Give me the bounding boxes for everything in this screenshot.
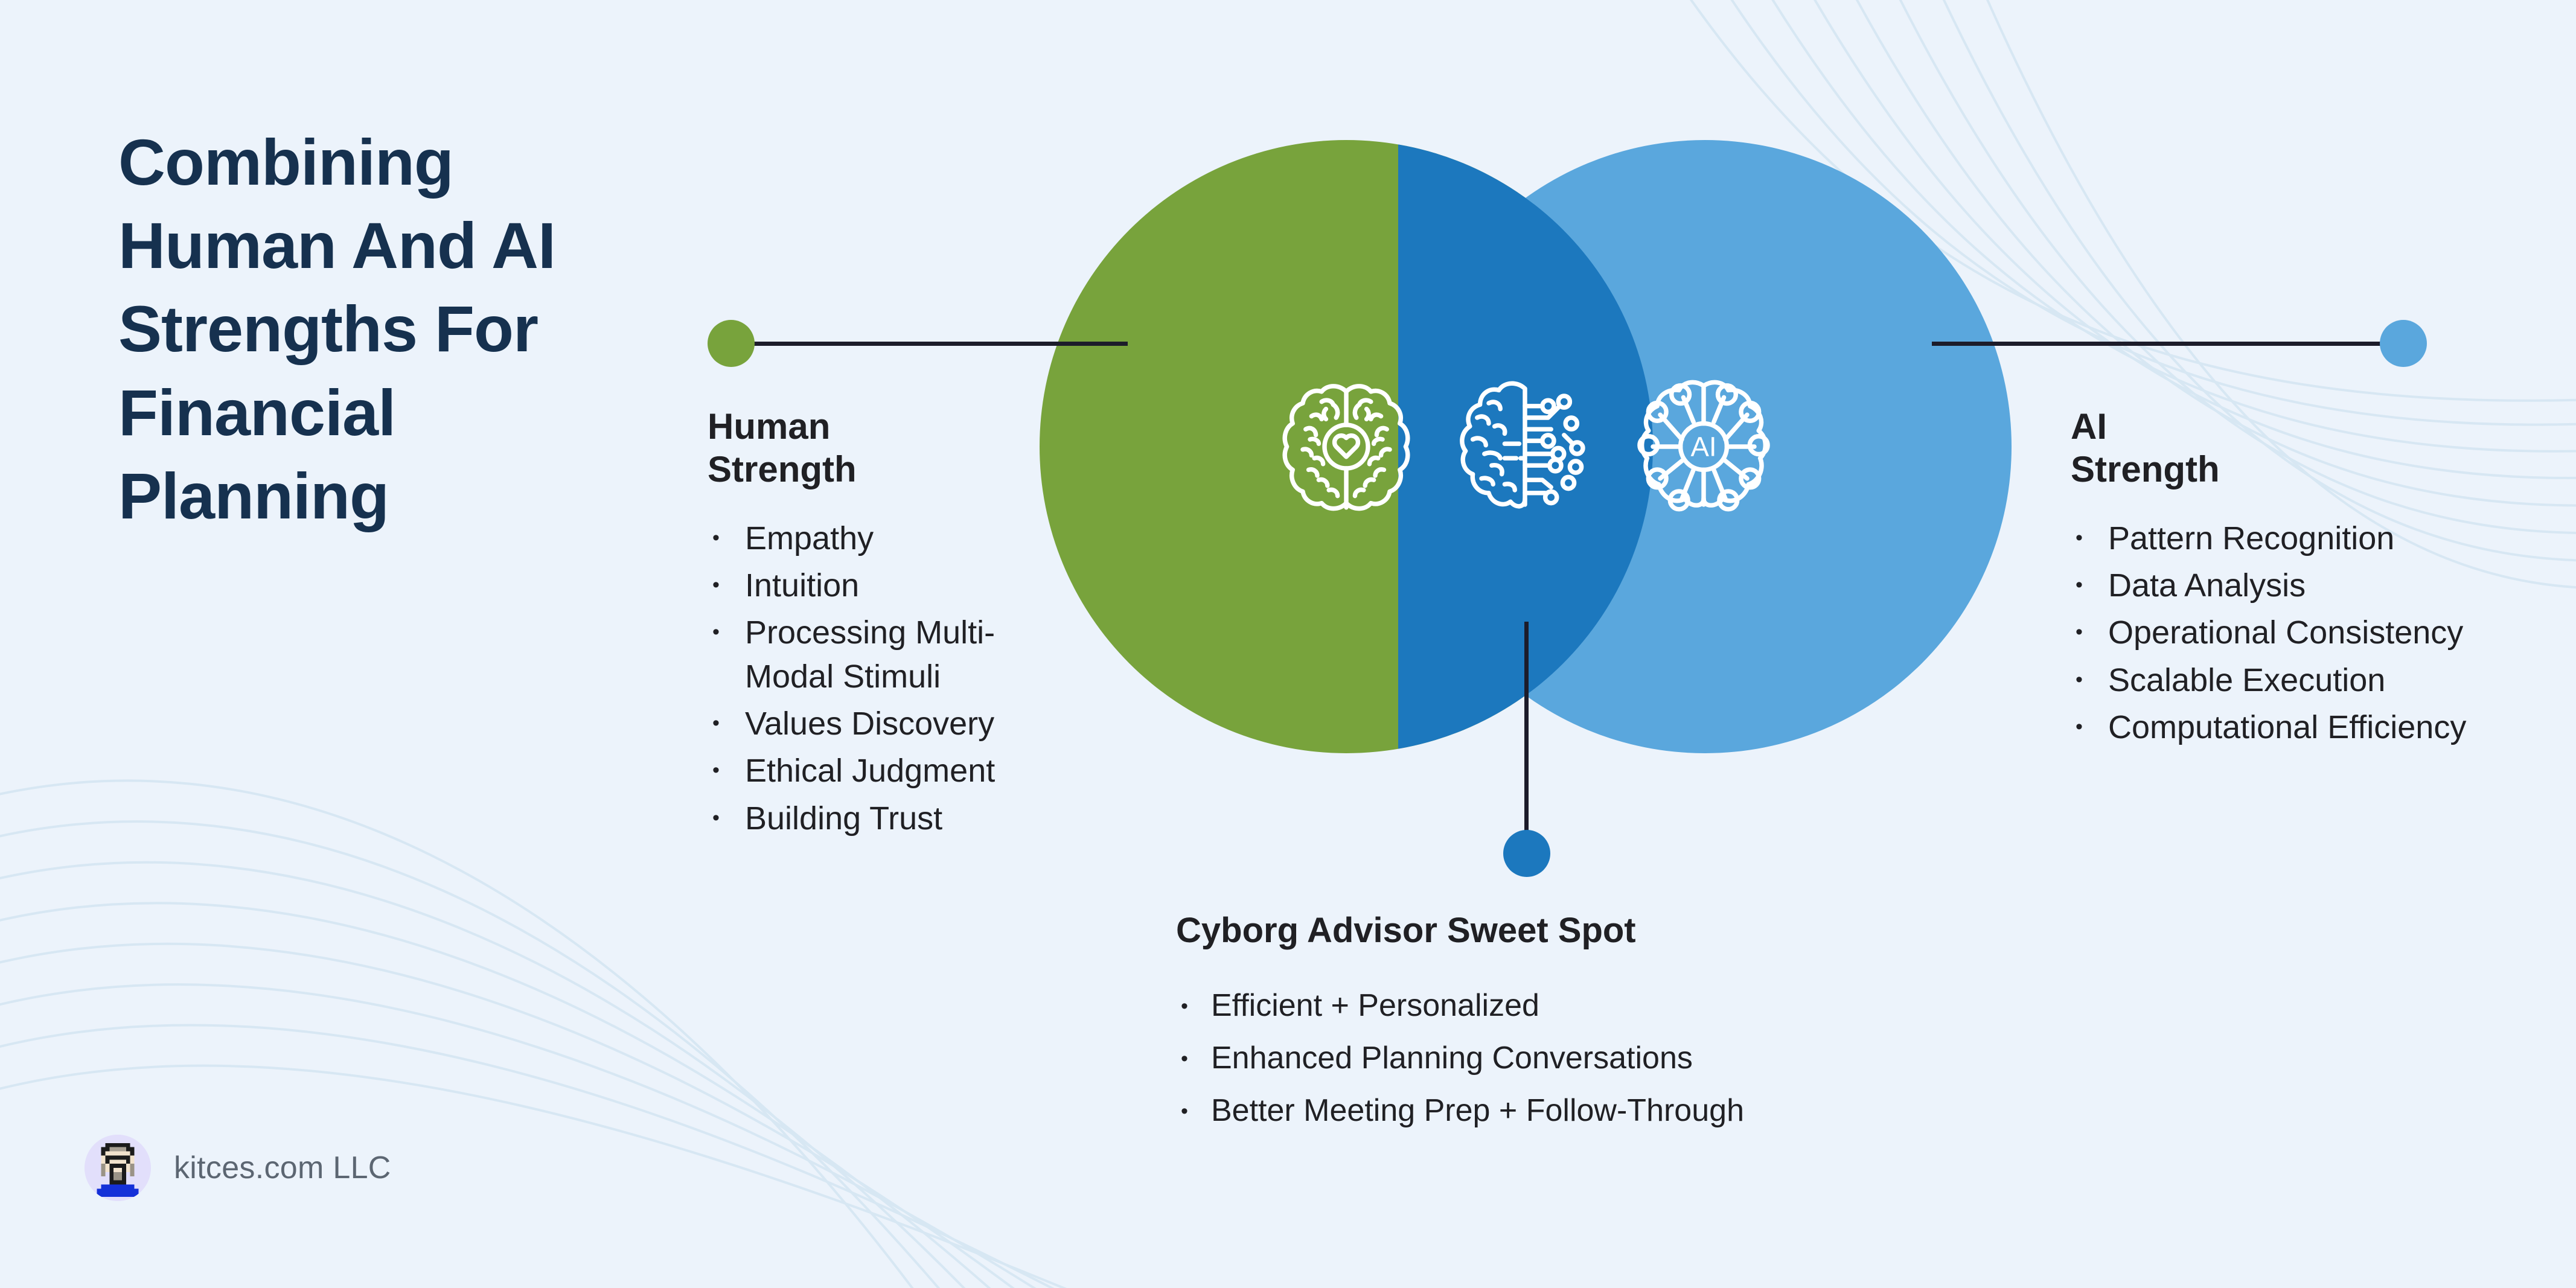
footer-label: kitces.com LLC <box>174 1150 391 1186</box>
brain-heart-icon <box>1274 374 1419 519</box>
infographic-canvas: Combining Human And AI Strengths For Fin… <box>0 0 2576 1288</box>
footer-branding: kitces.com LLC <box>85 1135 391 1201</box>
list-item: Ethical Judgment <box>708 749 1082 792</box>
panel-human-strength: Human Strength Empathy Intuition Process… <box>708 406 1082 844</box>
list-item: Efficient + Personalized <box>1176 985 2021 1027</box>
list-item: Better Meeting Prep + Follow-Through <box>1176 1090 2021 1132</box>
list-item: Intuition <box>708 564 1082 607</box>
list-item: Values Discovery <box>708 702 1082 745</box>
connector-line-center <box>1524 622 1529 851</box>
cyborg-advisor-heading: Cyborg Advisor Sweet Spot <box>1176 910 2021 951</box>
pixel-avatar-icon <box>85 1135 151 1201</box>
connector-dot-ai <box>2380 320 2427 367</box>
list-item: Empathy <box>708 517 1082 560</box>
ai-icon-label: AI <box>1690 432 1716 462</box>
brain-network-ai-icon: AI <box>1631 374 1776 519</box>
ai-strength-heading: AI Strength <box>2071 406 2493 491</box>
panel-ai-strength: AI Strength Pattern Recognition Data Ana… <box>2071 406 2493 753</box>
page-title: Combining Human And AI Strengths For Fin… <box>118 121 662 538</box>
list-item: Enhanced Planning Conversations <box>1176 1038 2021 1079</box>
list-item: Processing Multi-Modal Stimuli <box>708 611 1082 698</box>
panel-cyborg-advisor-sweet-spot: Cyborg Advisor Sweet Spot Efficient + Pe… <box>1176 910 2021 1142</box>
connector-line-ai <box>1932 342 2395 346</box>
cyborg-advisor-list: Efficient + Personalized Enhanced Planni… <box>1176 985 2021 1131</box>
list-item: Data Analysis <box>2071 564 2493 607</box>
list-item: Building Trust <box>708 797 1082 840</box>
human-strength-heading: Human Strength <box>708 406 1082 491</box>
connector-dot-human <box>708 320 755 367</box>
brain-circuit-icon <box>1453 374 1597 519</box>
list-item: Scalable Execution <box>2071 658 2493 702</box>
ai-strength-list: Pattern Recognition Data Analysis Operat… <box>2071 517 2493 750</box>
list-item: Operational Consistency <box>2071 611 2493 654</box>
human-strength-list: Empathy Intuition Processing Multi-Modal… <box>708 517 1082 841</box>
connector-dot-center <box>1503 830 1550 877</box>
list-item: Pattern Recognition <box>2071 517 2493 560</box>
list-item: Computational Efficiency <box>2071 706 2493 749</box>
connector-line-human <box>746 342 1128 346</box>
